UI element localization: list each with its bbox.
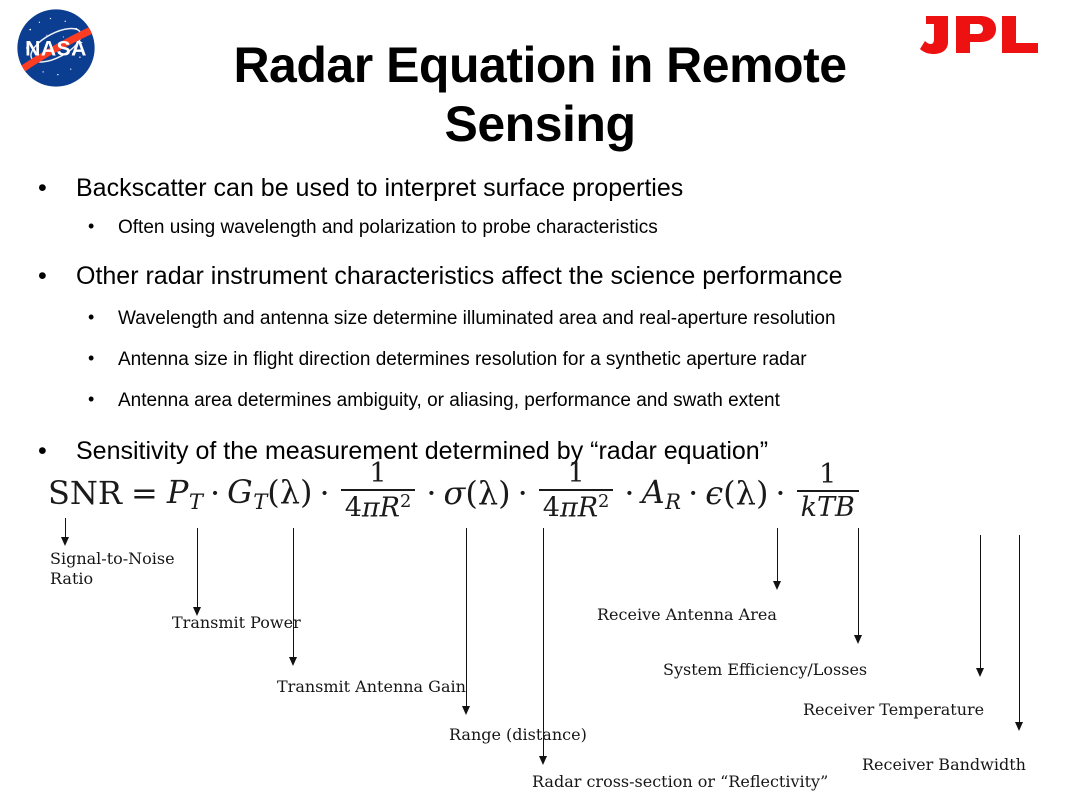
arrow-shaft	[980, 535, 981, 668]
callout-label-temperature: Receiver Temperature	[803, 700, 984, 720]
bullet-text: Antenna size in flight direction determi…	[118, 349, 807, 370]
callout-label-receive-area: Receive Antenna Area	[597, 605, 777, 625]
bullet-level2-antenna-area: • Antenna area determines ambiguity, or …	[0, 391, 1080, 415]
page-title: Radar Equation in Remote Sensing	[150, 36, 930, 154]
callout-arrow-receive-area	[772, 528, 783, 590]
bullet-text: Wavelength and antenna size determine il…	[118, 308, 836, 329]
fraction-denominator: 4πR2	[341, 491, 416, 523]
bullet-marker: •	[88, 349, 94, 367]
callout-label-transmit-gain: Transmit Antenna Gain	[277, 677, 466, 697]
arrow-shaft	[197, 528, 198, 607]
bullet-text: Antenna area determines ambiguity, or al…	[118, 390, 780, 411]
equation-term-spreading-2: 1 4πR2	[539, 460, 614, 523]
bullet-marker: •	[88, 308, 94, 326]
equation-dot: ·	[688, 474, 698, 512]
bullet-level2-antenna-size: • Antenna size in flight direction deter…	[0, 350, 1080, 374]
callout-label-line-1: Signal-to-Noise	[50, 549, 190, 569]
arrow-head	[462, 706, 470, 715]
arrow-head	[773, 581, 781, 590]
svg-text:NASA: NASA	[25, 37, 87, 60]
equation-dot: ·	[624, 474, 634, 512]
arrow-head	[976, 668, 984, 677]
fraction-denominator: kTB	[797, 492, 859, 523]
bullet-level2-wavelength: • Wavelength and antenna size determine …	[0, 309, 1080, 333]
callout-arrow-snr	[60, 518, 71, 546]
equation-dot: ·	[775, 474, 785, 512]
fraction-numerator: 1	[364, 460, 391, 488]
equation-term-spreading-1: 1 4πR2	[341, 460, 416, 523]
bullet-marker: •	[38, 264, 47, 289]
arrow-shaft	[1019, 535, 1020, 722]
arrow-shaft	[543, 528, 544, 756]
equation-term-cross-section: σ(λ)	[444, 474, 511, 512]
callout-arrow-transmit-power	[192, 528, 203, 616]
equation-dot: ·	[518, 474, 528, 512]
callout-label-transmit-power: Transmit Power	[172, 613, 301, 633]
callout-label-line-2: Ratio	[50, 569, 190, 589]
callout-label-cross-section: Radar cross-section or “Reflectivity”	[532, 772, 828, 792]
page-title-line-1: Radar Equation in Remote	[150, 36, 930, 95]
callout-arrow-temperature	[975, 535, 986, 677]
fraction-numerator: 1	[562, 460, 589, 488]
nasa-logo: NASA	[10, 2, 102, 94]
fraction-denominator: 4πR2	[539, 491, 614, 523]
jpl-logo	[918, 12, 1046, 58]
arrow-head	[61, 537, 69, 546]
nasa-logo-icon: NASA	[10, 2, 102, 94]
bullet-text: Sensitivity of the measurement determine…	[76, 437, 768, 465]
equation-term-transmit-power: PT	[167, 473, 203, 514]
slide-canvas: NASA Radar Equation in Remote Sensing • …	[0, 0, 1080, 810]
equation-term-noise-power: 1 kTB	[797, 461, 859, 523]
page-title-line-2: Sensing	[150, 95, 930, 154]
equation-dot: ·	[320, 474, 330, 512]
arrow-shaft	[466, 528, 467, 706]
bullet-list: • Backscatter can be used to interpret s…	[0, 176, 1080, 484]
arrow-shaft	[65, 518, 66, 537]
bullet-marker: •	[88, 217, 94, 235]
bullet-marker: •	[38, 439, 47, 464]
bullet-marker: •	[38, 176, 47, 201]
equation-term-snr: SNR	[48, 474, 122, 512]
arrow-shaft	[293, 528, 294, 657]
bullet-text: Backscatter can be used to interpret sur…	[76, 174, 683, 202]
arrow-head	[539, 756, 547, 765]
bullet-level1-other-radar: • Other radar instrument characteristics…	[0, 264, 1080, 294]
radar-equation: SNR = PT · GT(λ) · 1 4πR2 · σ(λ) · 1 4πR…	[48, 462, 863, 525]
arrow-head	[854, 635, 862, 644]
callout-label-range: Range (distance)	[449, 725, 587, 745]
arrow-shaft	[777, 528, 778, 581]
bullet-marker: •	[88, 390, 94, 408]
arrow-head	[1015, 722, 1023, 731]
callout-label-bandwidth: Receiver Bandwidth	[862, 755, 1026, 775]
bullet-text: Other radar instrument characteristics a…	[76, 262, 843, 290]
equation-term-receive-area: AR	[642, 473, 682, 514]
callout-label-snr: Signal-to-Noise Ratio	[50, 549, 190, 588]
bullet-text: Often using wavelength and polarization …	[118, 217, 658, 238]
equation-term-efficiency: ϵ(λ)	[705, 474, 768, 512]
equation-dot: ·	[426, 474, 436, 512]
equation-dot: ·	[210, 474, 220, 512]
callout-label-efficiency: System Efficiency/Losses	[663, 660, 867, 680]
bullet-level1-backscatter: • Backscatter can be used to interpret s…	[0, 176, 1080, 206]
callout-arrow-transmit-gain	[288, 528, 299, 666]
bullet-level2-often-using: • Often using wavelength and polarizatio…	[0, 218, 1080, 242]
equation-equals: =	[131, 474, 158, 512]
callout-arrow-bandwidth	[1014, 535, 1025, 731]
callout-arrow-efficiency	[853, 528, 864, 644]
fraction-numerator: 1	[814, 461, 841, 489]
arrow-shaft	[858, 528, 859, 635]
equation-term-transmit-gain: GT(λ)	[227, 473, 312, 514]
arrow-head	[289, 657, 297, 666]
jpl-logo-icon	[918, 12, 1046, 58]
